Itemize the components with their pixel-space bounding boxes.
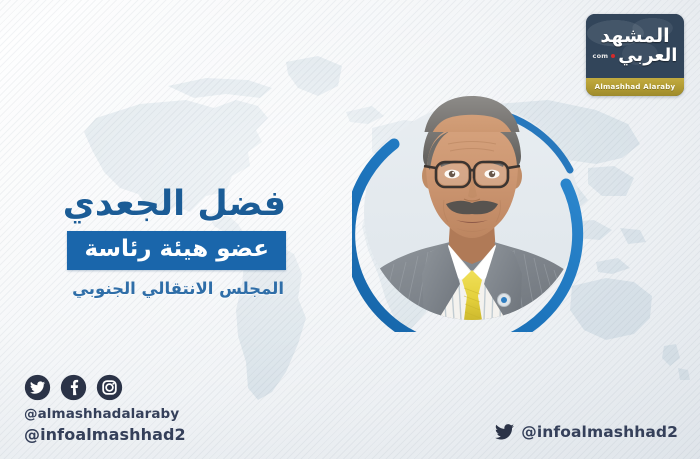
channel-logo[interactable]: المشهد com العربي Almashhad Alaraby <box>586 14 684 96</box>
portrait-ring <box>352 92 592 332</box>
logo-latin-name: Almashhad Alaraby <box>595 83 676 91</box>
twitter-bird-icon <box>495 424 514 440</box>
logo-arabic-line2-row: com العربي <box>593 47 678 65</box>
logo-arabic-line2: العربي <box>618 47 677 65</box>
social-handle-primary[interactable]: @almashhadalaraby <box>24 405 186 424</box>
social-block: @almashhadalaraby @infoalmashhad2 <box>24 374 186 447</box>
logo-com-label: com <box>593 52 609 60</box>
portrait-container <box>352 92 592 332</box>
logo-badge-bottom: Almashhad Alaraby <box>586 78 684 96</box>
headline-block: فضل الجعدي عضو هيئة رئاسة المجلس الانتقا… <box>0 185 300 298</box>
role-bar-row: عضو هيئة رئاسة <box>0 224 300 269</box>
instagram-icon[interactable] <box>96 374 123 401</box>
role-badge: عضو هيئة رئاسة <box>67 231 286 269</box>
logo-red-dot-icon <box>611 54 615 58</box>
person-name: فضل الجعدي <box>0 185 300 224</box>
logo-badge-top: المشهد com العربي <box>586 14 684 78</box>
footer-twitter-handle[interactable]: @infoalmashhad2 <box>521 421 678 443</box>
social-handle-secondary[interactable]: @infoalmashhad2 <box>24 424 186 447</box>
poster-canvas: المشهد com العربي Almashhad Alaraby <box>0 0 700 459</box>
twitter-icon[interactable] <box>24 374 51 401</box>
social-icons-row <box>24 374 186 401</box>
organization-name: المجلس الانتقالي الجنوبي <box>0 279 300 299</box>
facebook-icon[interactable] <box>60 374 87 401</box>
footer-twitter-block[interactable]: @infoalmashhad2 <box>495 421 678 443</box>
logo-arabic-line1: المشهد <box>600 27 669 46</box>
